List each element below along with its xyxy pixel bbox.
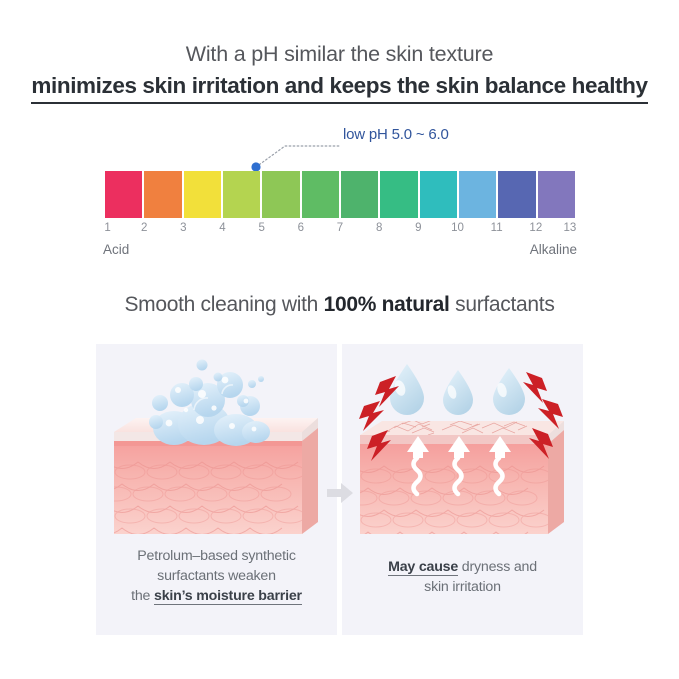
ph-swatch-7 <box>341 171 378 218</box>
caption-right-line-1-suffix: dryness and <box>458 559 537 575</box>
ph-swatch-10 <box>459 171 496 218</box>
ph-tick-label-11: 11 <box>491 222 503 234</box>
caption-left-line-3-emphasis: skin’s moisture barrier <box>154 588 302 605</box>
skin-with-foam-illustration <box>96 344 337 549</box>
ph-acid-label: Acid <box>103 242 129 257</box>
ph-tick-label-5: 5 <box>258 222 264 234</box>
caption-left-line-2: surfactants weaken <box>106 566 327 586</box>
ph-swatch-9 <box>420 171 457 218</box>
ph-tick-label-9: 9 <box>415 222 421 234</box>
caption-left-line-3: the skin’s moisture barrier <box>106 586 327 606</box>
ph-tick-label-6: 6 <box>298 222 304 234</box>
ph-tick-label-7: 7 <box>337 222 343 234</box>
subhead-prefix: Smooth cleaning with <box>124 293 323 316</box>
ph-swatch-4 <box>223 171 260 218</box>
caption-left-line-3-prefix: the <box>131 588 154 604</box>
headline-line-2: minimizes skin irritation and keeps the … <box>31 72 647 104</box>
caption-left-line-1: Petrolum–based synthetic <box>106 546 327 566</box>
ph-annotation-label: low pH 5.0 ~ 6.0 <box>343 126 449 143</box>
arrow-right-icon <box>325 481 355 505</box>
ph-color-scale <box>105 171 575 218</box>
caption-right-line-2: skin irritation <box>352 577 573 597</box>
caption-right-line-1-emphasis: May cause <box>388 559 458 576</box>
ph-swatch-1 <box>105 171 142 218</box>
ph-tick-label-8: 8 <box>376 222 382 234</box>
caption-right-line-1: May cause dryness and <box>352 557 573 577</box>
ph-tick-labels: 12345678910111213 <box>105 222 575 238</box>
ph-end-labels: Acid Alkaline <box>105 242 575 260</box>
panel-damaged-skin: May cause dryness and skin irritation <box>342 344 583 635</box>
ph-swatch-8 <box>380 171 417 218</box>
ph-tick-label-12: 12 <box>529 222 542 234</box>
ph-tick-label-1: 1 <box>104 222 110 234</box>
ph-tick-label-10: 10 <box>451 222 464 234</box>
headline-block: With a pH similar the skin texture minim… <box>0 40 679 104</box>
ph-swatch-3 <box>184 171 221 218</box>
ph-swatch-5 <box>262 171 299 218</box>
ph-annotation: low pH 5.0 ~ 6.0 <box>247 128 547 174</box>
ph-swatch-11 <box>498 171 535 218</box>
headline-line-1: With a pH similar the skin texture <box>0 40 679 68</box>
ph-tick-label-13: 13 <box>563 222 576 234</box>
foam-bubbles-icon <box>149 360 270 447</box>
ph-tick-label-2: 2 <box>141 222 147 234</box>
damaged-skin-illustration <box>342 344 583 549</box>
ph-swatch-6 <box>302 171 339 218</box>
subhead: Smooth cleaning with 100% natural surfac… <box>0 293 679 317</box>
panel-left-caption: Petrolum–based synthetic surfactants wea… <box>106 546 327 606</box>
subhead-emphasis: 100% natural <box>324 293 450 316</box>
ph-swatch-2 <box>144 171 181 218</box>
panel-right-caption: May cause dryness and skin irritation <box>352 557 573 597</box>
ph-alkaline-label: Alkaline <box>530 242 577 257</box>
ph-tick-label-3: 3 <box>180 222 186 234</box>
panel-healthy-skin-with-foam: Petrolum–based synthetic surfactants wea… <box>96 344 337 635</box>
ph-tick-label-4: 4 <box>219 222 225 234</box>
ph-swatch-12 <box>538 171 575 218</box>
infographic-page: With a pH similar the skin texture minim… <box>0 0 679 679</box>
subhead-suffix: surfactants <box>450 293 555 316</box>
